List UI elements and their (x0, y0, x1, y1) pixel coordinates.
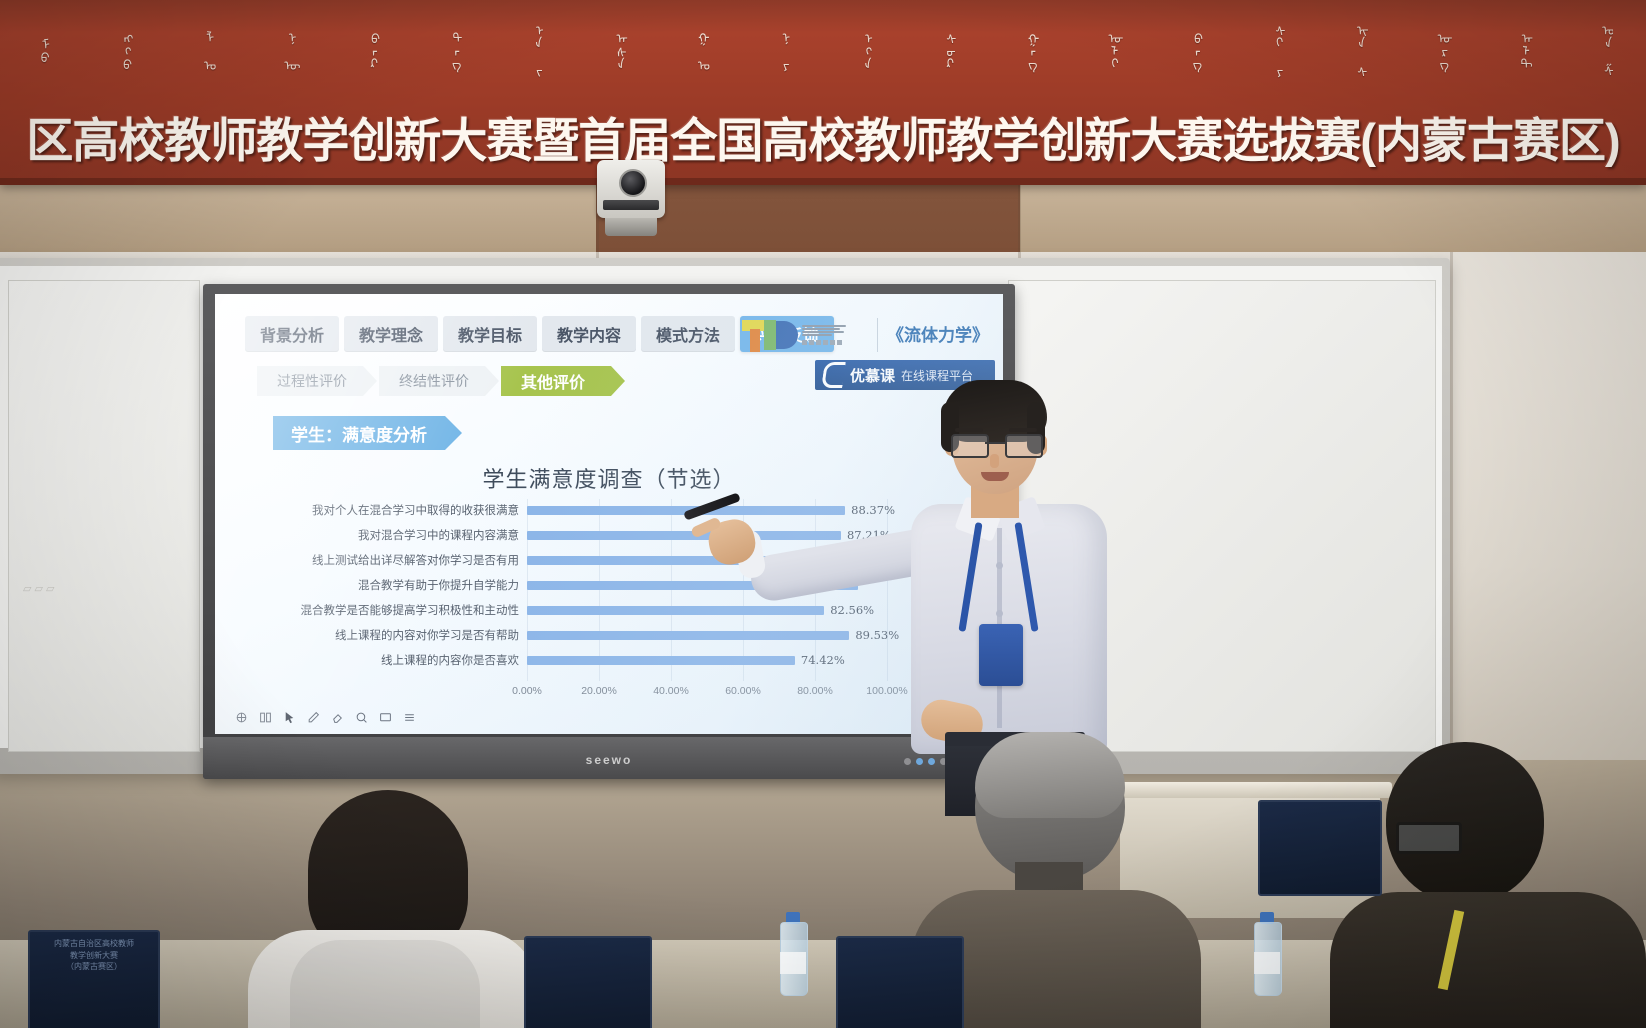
slide-substep-2[interactable]: 其他评价 (501, 366, 611, 396)
slides-icon[interactable] (259, 711, 272, 724)
camera-label-strip (603, 200, 659, 210)
banner-title: 区高校教师教学创新大赛暨首届全国高校教师教学创新大赛选拔赛(内蒙古赛区) (0, 100, 1646, 172)
banner-mongolian-column: ᠨ ᠥ (281, 30, 295, 71)
banner-mongolian-column: ᠰᠤᠷ (940, 31, 954, 70)
event-banner: ᠮᠣᠩᠭᠣᠯ ᠤᠨ ᠥᠪᠡᠷᠲᠡᠭᠡᠨ ᠵᠠᠰᠠᠭ ᠤᠨ ᠶᠡᠬᠡᠰᠤᠷᠭᠠᠭᠤ… (0, 0, 1646, 185)
banner-mongolian-column: ᠩᠭᠣ (117, 31, 131, 70)
banner-mongolian-column: ᠲᠡᠭ (446, 31, 460, 70)
chart-category-label: 我对混合学习中的课程内容满意 (261, 527, 527, 543)
chart-category-label: 混合教学是否能够提高学习积极性和主动性 (261, 602, 527, 618)
chart-x-axis: 0.00%20.00%40.00%60.00%80.00%100.00% (527, 685, 957, 703)
slide-tab-1[interactable]: 教学理念 (344, 316, 438, 352)
attendee-front-left (230, 790, 550, 1028)
banner-mongolian-column: ᠪᠠᠭ (1186, 31, 1200, 70)
umooc-logo-icon (821, 362, 846, 388)
chart-category-label: 线上测试给出详尽解答对你学习是否有用 (261, 552, 527, 568)
screen-icon[interactable] (379, 711, 392, 724)
attendee-hair (975, 732, 1125, 818)
banner-mongolian-column: ᠭ ᠤ (693, 30, 707, 71)
cursor-icon[interactable] (283, 711, 296, 724)
display-screen[interactable]: 背景分析教学理念教学目标教学内容模式方法评价反馈 《流体力学》 过 (215, 294, 1003, 734)
options-icon[interactable] (235, 711, 248, 724)
satisfaction-bar-chart: 我对个人在混合学习中取得的收获很满意88.37%我对混合学习中的课程内容满意87… (261, 499, 961, 699)
chart-bar-row: 线上课程的内容对你学习是否有帮助89.53% (261, 624, 961, 646)
pen-icon[interactable] (307, 711, 320, 724)
whiteboard-faint-marks: ▱ ▱ ▱ (23, 581, 55, 598)
wall-wood-left (0, 180, 596, 260)
zoom-icon[interactable] (355, 711, 368, 724)
chart-bar (527, 656, 795, 665)
platform-name: 优慕课 (850, 365, 895, 386)
whiteboard-panel-left: ▱ ▱ ▱ (8, 280, 200, 752)
attendee-glasses-icon (1396, 822, 1462, 854)
chart-bar-track (527, 631, 887, 640)
chart-bar (527, 606, 824, 615)
chart-x-tick: 0.00% (512, 685, 542, 697)
chart-bar-row: 线上课程的内容你是否喜欢74.42% (261, 649, 961, 671)
slide-tab-3[interactable]: 教学内容 (542, 316, 636, 352)
tic-logo (740, 316, 870, 354)
menu-icon[interactable] (403, 711, 416, 724)
chart-category-label: 线上课程的内容对你学习是否有帮助 (261, 627, 527, 643)
chart-bar-track (527, 656, 887, 665)
chart-x-tick: 40.00% (653, 685, 689, 697)
slide-substep-0[interactable]: 过程性评价 (257, 366, 363, 396)
banner-mongolian-column: ᠠᠰᠠ (610, 31, 624, 70)
tic-logo-mark-icon (740, 317, 798, 353)
chart-x-tick: 20.00% (581, 685, 617, 697)
chart-bar-track (527, 606, 887, 615)
chart-category-label: 我对个人在混合学习中取得的收获很满意 (261, 502, 527, 518)
chart-title: 学生满意度调查（节选） (215, 462, 1003, 494)
banner-mongolian-column: ᠭᠠᠭ (1022, 31, 1036, 70)
slide-substep-1[interactable]: 终结性评价 (379, 366, 485, 396)
eraser-icon[interactable] (331, 711, 344, 724)
presenter-id-badge (979, 624, 1023, 686)
banner-mongolian-row: ᠮᠣᠩᠭᠣᠯ ᠤᠨ ᠥᠪᠡᠷᠲᠡᠭᠡᠨ ᠵᠠᠰᠠᠭ ᠤᠨ ᠶᠡᠬᠡᠰᠤᠷᠭᠠᠭᠤ… (0, 2, 1646, 98)
banner-mongolian-column: ᠤᠷᠭ (1433, 31, 1447, 70)
chart-bar (527, 531, 841, 540)
camera-lens-icon (619, 169, 647, 197)
header-divider (877, 318, 878, 352)
interactive-display[interactable]: 背景分析教学理念教学目标教学内容模式方法评价反馈 《流体力学》 过 (203, 284, 1015, 779)
laptop-lid-text: 内蒙古自治区高校教师教学创新大赛（内蒙古赛区） (36, 938, 152, 973)
tic-logo-caption (802, 325, 846, 345)
banner-mongolian-column: ᠨ ᠶ (775, 30, 789, 71)
chart-category-label: 线上课程的内容你是否喜欢 (261, 652, 527, 668)
banner-mongolian-column: ᠢᠨ ᠰ (1351, 23, 1365, 77)
presenter-nose (990, 454, 999, 468)
wall-wood-right (1020, 180, 1646, 260)
banner-mongolian-column: ᠪᠡᠷ (363, 31, 377, 70)
attendee-body (1330, 892, 1646, 1028)
display-brand: seewo (586, 753, 633, 767)
chart-bar-row: 混合教学是否能够提高学习积极性和主动性82.56% (261, 599, 961, 621)
banner-mongolian-column: ᠡᠬᠡ (857, 31, 871, 70)
display-bezel-bottom: seewo (203, 737, 1015, 779)
course-title: 《流体力学》 (887, 321, 989, 346)
banner-bottom-edge (0, 178, 1646, 185)
attendee-body-shading (290, 940, 480, 1028)
chart-bar-row: 我对个人在混合学习中取得的收获很满意88.37% (261, 499, 961, 521)
banner-mongolian-column: ᠡᠨ ᠵ (528, 23, 542, 77)
banner-mongolian-column: ᠰᠢ ᠶ (1269, 23, 1283, 77)
camera-mount (605, 218, 657, 236)
panel-seam-far-right (1450, 252, 1453, 772)
chart-x-tick: 100.00% (866, 685, 907, 697)
chart-bar (527, 631, 849, 640)
banner-mongolian-column: ᠯ ᠤ (199, 30, 213, 71)
slide-tab-2[interactable]: 教学目标 (443, 316, 537, 352)
chart-x-tick: 60.00% (725, 685, 761, 697)
presenter (905, 372, 1165, 792)
slide-tab-0[interactable]: 背景分析 (245, 316, 339, 352)
banner-mongolian-column: ᠤᠨ ᠱ (1598, 23, 1612, 77)
slide-sub-steps[interactable]: 过程性评价终结性评价其他评价 (257, 366, 611, 396)
presentation-slide: 背景分析教学理念教学目标教学内容模式方法评价反馈 《流体力学》 过 (215, 294, 1003, 734)
ppt-toolbar[interactable] (227, 706, 477, 728)
banner-mongolian-column: ᠮᠣ (34, 37, 48, 63)
chart-category-label: 混合教学有助于你提升自学能力 (261, 577, 527, 593)
ceiling-camera (597, 160, 665, 242)
banner-mongolian-column: ᠠᠯᠲ (1516, 31, 1530, 70)
section-tab: 学生：满意度分析 (273, 416, 445, 450)
screenshot-scene: ᠮᠣᠩᠭᠣᠯ ᠤᠨ ᠥᠪᠡᠷᠲᠡᠭᠡᠨ ᠵᠠᠰᠠᠭ ᠤᠨ ᠶᠡᠬᠡᠰᠤᠷᠭᠠᠭᠤ… (0, 0, 1646, 1028)
presenter-glasses-icon (951, 434, 1041, 454)
banner-mongolian-column: ᠤᠯᠢ (1104, 31, 1118, 70)
chart-x-tick: 80.00% (797, 685, 833, 697)
camera-body (597, 160, 665, 218)
slide-tab-4[interactable]: 模式方法 (641, 316, 735, 352)
